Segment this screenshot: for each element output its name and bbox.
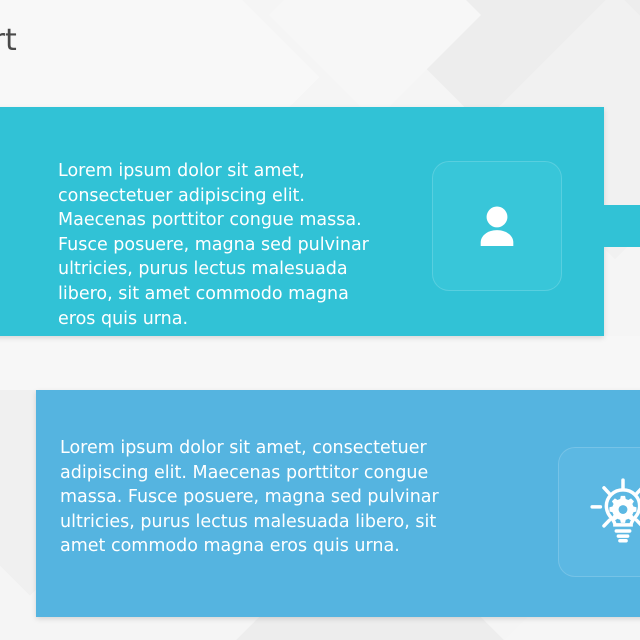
card-1-body: Lorem ipsum dolor sit amet, consectetuer…: [0, 107, 604, 336]
lightbulb-gear-icon: [586, 475, 640, 549]
card-2-body: Lorem ipsum dolor sit amet, consectetuer…: [36, 390, 640, 617]
person-icon: [468, 197, 526, 255]
page-title: rtArt: [0, 24, 17, 58]
card-2-icon-tile[interactable]: [558, 447, 640, 577]
background-band: [0, 336, 640, 390]
card-1-icon-tile[interactable]: [432, 161, 562, 291]
slide-canvas: rtArt Lorem ipsum dolor sit amet, consec…: [0, 0, 640, 640]
content-card-2[interactable]: Lorem ipsum dolor sit amet, consectetuer…: [36, 390, 640, 617]
card-2-text: Lorem ipsum dolor sit amet, consectetuer…: [60, 436, 460, 559]
content-card-1[interactable]: Lorem ipsum dolor sit amet, consectetuer…: [0, 107, 604, 336]
card-1-connector: [604, 205, 640, 247]
card-1-text: Lorem ipsum dolor sit amet, consectetuer…: [58, 159, 380, 331]
